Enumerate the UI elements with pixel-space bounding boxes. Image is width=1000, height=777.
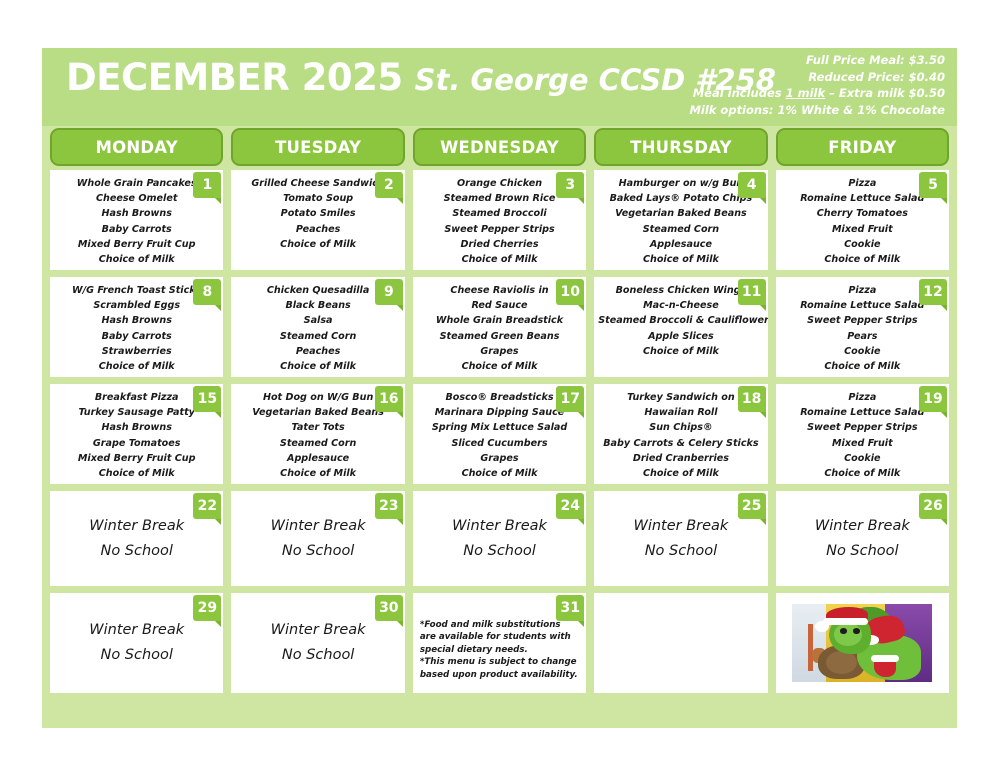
day-number-badge: 11 (738, 279, 766, 305)
illustration-shape (871, 655, 899, 661)
calendar-week-row: 29Winter BreakNo School30Winter BreakNo … (50, 593, 949, 693)
calendar-day-cell-17[interactable]: 17Bosco® BreadsticksMarinara Dipping Sau… (413, 384, 586, 484)
calendar-day-cell-26[interactable]: 26Winter BreakNo School (776, 491, 949, 586)
menu-item: Choice of Milk (417, 466, 582, 481)
calendar-day-cell-11[interactable]: 11Boneless Chicken WingsMac-n-CheeseStea… (594, 277, 767, 377)
day-number-badge: 25 (738, 493, 766, 519)
calendar-day-cell-empty[interactable] (594, 593, 767, 693)
menu-item: Strawberries (54, 344, 219, 359)
menu-item: Steamed Green Beans (417, 329, 582, 344)
day-number-badge: 5 (919, 172, 947, 198)
menu-item: Spring Mix Lettuce Salad (417, 420, 582, 435)
day-number-badge: 2 (375, 172, 403, 198)
no-school-line: Winter Break (50, 618, 223, 643)
day-header-label: FRIDAY (828, 138, 896, 157)
no-school-notice: Winter BreakNo School (231, 514, 404, 564)
calendar-day-cell-22[interactable]: 22Winter BreakNo School (50, 491, 223, 586)
menu-item: Cherry Tomatoes (780, 206, 945, 221)
menu-item: Choice of Milk (598, 252, 763, 267)
menu-item: Choice of Milk (54, 466, 219, 481)
no-school-line: No School (413, 539, 586, 564)
menu-item: Choice of Milk (598, 344, 763, 359)
no-school-line: No School (776, 539, 949, 564)
day-number-badge: 23 (375, 493, 403, 519)
menu-item: Mixed Fruit (780, 222, 945, 237)
menu-item: Potato Smiles (235, 206, 400, 221)
milk-options-line: Milk options: 1% White & 1% Chocolate (689, 102, 945, 119)
calendar-day-cell-1[interactable]: 1Whole Grain PancakesCheese OmeletHash B… (50, 170, 223, 270)
menu-item: Choice of Milk (780, 359, 945, 374)
no-school-notice: Winter BreakNo School (231, 618, 404, 668)
no-school-notice: Winter BreakNo School (50, 618, 223, 668)
day-header-label: WEDNESDAY (440, 138, 559, 157)
day-header-label: MONDAY (96, 138, 178, 157)
menu-item: Grapes (417, 344, 582, 359)
day-number-badge: 3 (556, 172, 584, 198)
reduced-price-line: Reduced Price: $0.40 (689, 69, 945, 86)
calendar-week-row: 1Whole Grain PancakesCheese OmeletHash B… (50, 170, 949, 270)
menu-item: Dried Cherries (417, 237, 582, 252)
day-number-badge: 16 (375, 386, 403, 412)
menu-item: Steamed Broccoli & Cauliflower (598, 313, 763, 328)
illustration-shape (840, 628, 847, 633)
menu-item: Choice of Milk (54, 252, 219, 267)
no-school-line: No School (50, 643, 223, 668)
day-header-monday: MONDAY (50, 128, 223, 166)
no-school-line: No School (231, 539, 404, 564)
day-number-badge: 29 (193, 595, 221, 621)
menu-item: Choice of Milk (780, 466, 945, 481)
menu-item: Tater Tots (235, 420, 400, 435)
no-school-line: No School (50, 539, 223, 564)
day-number-badge: 17 (556, 386, 584, 412)
menu-item: Baby Carrots (54, 222, 219, 237)
menu-item: Grape Tomatoes (54, 436, 219, 451)
calendar-day-cell-24[interactable]: 24Winter BreakNo School (413, 491, 586, 586)
menu-item: Cookie (780, 344, 945, 359)
menu-item: Applesauce (235, 451, 400, 466)
menu-item: Choice of Milk (598, 466, 763, 481)
day-name-row: MONDAYTUESDAYWEDNESDAYTHURSDAYFRIDAY (42, 126, 957, 170)
calendar-day-cell-12[interactable]: 12PizzaRomaine Lettuce SaladSweet Pepper… (776, 277, 949, 377)
menu-item: Hash Browns (54, 313, 219, 328)
day-number-badge: 19 (919, 386, 947, 412)
calendar-week-row: 22Winter BreakNo School23Winter BreakNo … (50, 491, 949, 586)
calendar-header: DECEMBER 2025 St. George CCSD #258 Full … (42, 48, 957, 126)
menu-item: Cookie (780, 237, 945, 252)
day-number-badge: 9 (375, 279, 403, 305)
menu-item: Baby Carrots (54, 329, 219, 344)
menu-item: Steamed Broccoli (417, 206, 582, 221)
no-school-line: No School (231, 643, 404, 668)
illustration-shape (823, 618, 868, 625)
menu-item: Steamed Corn (235, 436, 400, 451)
calendar-day-cell-empty[interactable] (776, 593, 949, 693)
no-school-line: Winter Break (231, 618, 404, 643)
day-number-badge: 24 (556, 493, 584, 519)
menu-item: Mixed Fruit (780, 436, 945, 451)
calendar-day-cell-23[interactable]: 23Winter BreakNo School (231, 491, 404, 586)
menu-item: Choice of Milk (235, 359, 400, 374)
day-number-badge: 12 (919, 279, 947, 305)
day-number-badge: 31 (556, 595, 584, 621)
day-number-badge: 15 (193, 386, 221, 412)
day-number-badge: 18 (738, 386, 766, 412)
menu-item: Grapes (417, 451, 582, 466)
full-price-line: Full Price Meal: $3.50 (689, 52, 945, 69)
menu-item: Sun Chips® (598, 420, 763, 435)
menu-item: Hash Browns (54, 420, 219, 435)
menu-item: Sweet Pepper Strips (780, 420, 945, 435)
milk-included-line: Meal includes 1 milk – Extra milk $0.50 (689, 85, 945, 102)
header-title-group: DECEMBER 2025 St. George CCSD #258 (66, 56, 776, 99)
calendar-week-row: 8W/G French Toast SticksScrambled EggsHa… (50, 277, 949, 377)
calendar-day-cell-10[interactable]: 10Cheese Raviolis inRed SauceWhole Grain… (413, 277, 586, 377)
day-number-badge: 22 (193, 493, 221, 519)
menu-item: Dried Cranberries (598, 451, 763, 466)
day-number-badge: 30 (375, 595, 403, 621)
calendar-day-cell-25[interactable]: 25Winter BreakNo School (594, 491, 767, 586)
calendar-day-cell-30[interactable]: 30Winter BreakNo School (231, 593, 404, 693)
price-info-block: Full Price Meal: $3.50 Reduced Price: $0… (689, 52, 945, 118)
no-school-notice: Winter BreakNo School (50, 514, 223, 564)
menu-item: Sliced Cucumbers (417, 436, 582, 451)
menu-item: Choice of Milk (54, 359, 219, 374)
menu-item: Mixed Berry Fruit Cup (54, 237, 219, 252)
day-header-thursday: THURSDAY (594, 128, 767, 166)
menu-item: Choice of Milk (235, 466, 400, 481)
menu-item: Steamed Corn (598, 222, 763, 237)
calendar-page: DECEMBER 2025 St. George CCSD #258 Full … (42, 48, 957, 728)
no-school-notice: Winter BreakNo School (594, 514, 767, 564)
footnote-line: *Food and milk substitutions are availab… (420, 619, 579, 656)
menu-item: Steamed Corn (235, 329, 400, 344)
menu-item: Vegetarian Baked Beans (598, 206, 763, 221)
day-header-label: TUESDAY (275, 138, 361, 157)
day-number-badge: 4 (738, 172, 766, 198)
illustration-shape (826, 651, 857, 674)
menu-item: Salsa (235, 313, 400, 328)
calendar-day-cell-29[interactable]: 29Winter BreakNo School (50, 593, 223, 693)
day-header-wednesday: WEDNESDAY (413, 128, 586, 166)
illustration-shape (808, 624, 814, 671)
menu-item: Sweet Pepper Strips (780, 313, 945, 328)
illustration-shape (815, 621, 829, 632)
day-number-badge: 8 (193, 279, 221, 305)
calendar-grid: 1Whole Grain PancakesCheese OmeletHash B… (42, 170, 957, 708)
grinch-christmas-illustration-icon (792, 604, 932, 682)
menu-item: Choice of Milk (417, 359, 582, 374)
day-header-label: THURSDAY (630, 138, 732, 157)
menu-item: Choice of Milk (235, 237, 400, 252)
page-title: DECEMBER 2025 (66, 56, 403, 99)
calendar-day-cell-2[interactable]: 2Grilled Cheese SandwichTomato SoupPotat… (231, 170, 404, 270)
calendar-day-cell-15[interactable]: 15Breakfast PizzaTurkey Sausage PattyHas… (50, 384, 223, 484)
milk-included-suffix: – Extra milk $0.50 (825, 86, 945, 100)
milk-included-prefix: Meal includes (693, 86, 786, 100)
calendar-day-cell-8[interactable]: 8W/G French Toast SticksScrambled EggsHa… (50, 277, 223, 377)
menu-item: Choice of Milk (417, 252, 582, 267)
day-header-tuesday: TUESDAY (231, 128, 404, 166)
calendar-day-cell-9[interactable]: 9Chicken QuesadillaBlack BeansSalsaSteam… (231, 277, 404, 377)
day-number-badge: 10 (556, 279, 584, 305)
menu-item: Peaches (235, 222, 400, 237)
calendar-day-cell-5[interactable]: 5PizzaRomaine Lettuce SaladCherry Tomato… (776, 170, 949, 270)
calendar-day-cell-19[interactable]: 19PizzaRomaine Lettuce SaladSweet Pepper… (776, 384, 949, 484)
menu-item: Hash Browns (54, 206, 219, 221)
milk-included-underline: 1 milk (786, 86, 826, 100)
calendar-week-row: 15Breakfast PizzaTurkey Sausage PattyHas… (50, 384, 949, 484)
calendar-day-cell-18[interactable]: 18Turkey Sandwich onHawaiian RollSun Chi… (594, 384, 767, 484)
footnote-line: *This menu is subject to change based up… (420, 656, 579, 681)
day-number-badge: 26 (919, 493, 947, 519)
menu-item: Pears (780, 329, 945, 344)
menu-item: Cookie (780, 451, 945, 466)
calendar-day-cell-16[interactable]: 16Hot Dog on W/G BunVegetarian Baked Bea… (231, 384, 404, 484)
calendar-day-cell-31[interactable]: 31*Food and milk substitutions are avail… (413, 593, 586, 693)
menu-item: Whole Grain Breadstick (417, 313, 582, 328)
menu-item: Sweet Pepper Strips (417, 222, 582, 237)
day-header-friday: FRIDAY (776, 128, 949, 166)
calendar-day-cell-3[interactable]: 3Orange ChickenSteamed Brown RiceSteamed… (413, 170, 586, 270)
menu-item: Baby Carrots & Celery Sticks (598, 436, 763, 451)
no-school-line: No School (594, 539, 767, 564)
menu-item: Choice of Milk (780, 252, 945, 267)
no-school-notice: Winter BreakNo School (776, 514, 949, 564)
illustration-shape (853, 628, 860, 633)
calendar-day-cell-4[interactable]: 4Hamburger on w/g BunBaked Lays® Potato … (594, 170, 767, 270)
menu-item: Apple Slices (598, 329, 763, 344)
menu-item: Applesauce (598, 237, 763, 252)
day-number-badge: 1 (193, 172, 221, 198)
menu-item: Mixed Berry Fruit Cup (54, 451, 219, 466)
menu-item: Peaches (235, 344, 400, 359)
no-school-notice: Winter BreakNo School (413, 514, 586, 564)
